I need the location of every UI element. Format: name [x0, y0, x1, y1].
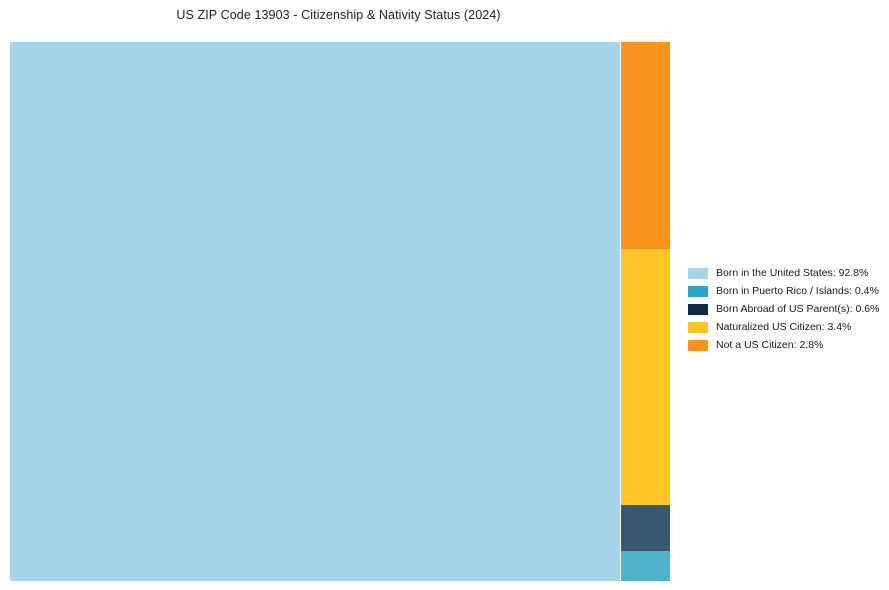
legend-item-naturalized-us-citizen[interactable]: Naturalized US Citizen: 3.4%	[688, 318, 884, 336]
treemap-tile-naturalized-us-citizen[interactable]	[621, 249, 670, 505]
treemap-tile-not-a-us-citizen[interactable]	[621, 42, 670, 249]
legend-item-label: Not a US Citizen: 2.8%	[716, 340, 823, 351]
treemap-plot-area	[10, 42, 670, 581]
legend-item-not-a-us-citizen[interactable]: Not a US Citizen: 2.8%	[688, 336, 884, 354]
legend-swatch-icon	[688, 340, 708, 351]
chart-title: US ZIP Code 13903 - Citizenship & Nativi…	[0, 8, 677, 22]
legend-swatch-icon	[688, 286, 708, 297]
legend-swatch-icon	[688, 268, 708, 279]
legend-swatch-icon	[688, 322, 708, 333]
chart-legend: Born in the United States: 92.8% Born in…	[688, 264, 884, 354]
treemap-figure: US ZIP Code 13903 - Citizenship & Nativi…	[0, 0, 889, 590]
legend-item-born-abroad-of-us-parents[interactable]: Born Abroad of US Parent(s): 0.6%	[688, 300, 884, 318]
legend-item-label: Born in Puerto Rico / Islands: 0.4%	[716, 286, 879, 297]
legend-item-label: Born in the United States: 92.8%	[716, 268, 868, 279]
treemap-right-column	[621, 42, 670, 581]
legend-item-label: Born Abroad of US Parent(s): 0.6%	[716, 304, 879, 315]
treemap-tile-born-in-the-united-states[interactable]	[10, 42, 620, 581]
legend-item-label: Naturalized US Citizen: 3.4%	[716, 322, 851, 333]
treemap-tile-born-abroad-of-us-parents[interactable]	[621, 505, 670, 551]
legend-swatch-icon	[688, 304, 708, 315]
legend-item-born-in-the-united-states[interactable]: Born in the United States: 92.8%	[688, 264, 884, 282]
legend-item-born-in-puerto-rico-islands[interactable]: Born in Puerto Rico / Islands: 0.4%	[688, 282, 884, 300]
treemap-tile-born-in-puerto-rico-islands[interactable]	[621, 551, 670, 581]
